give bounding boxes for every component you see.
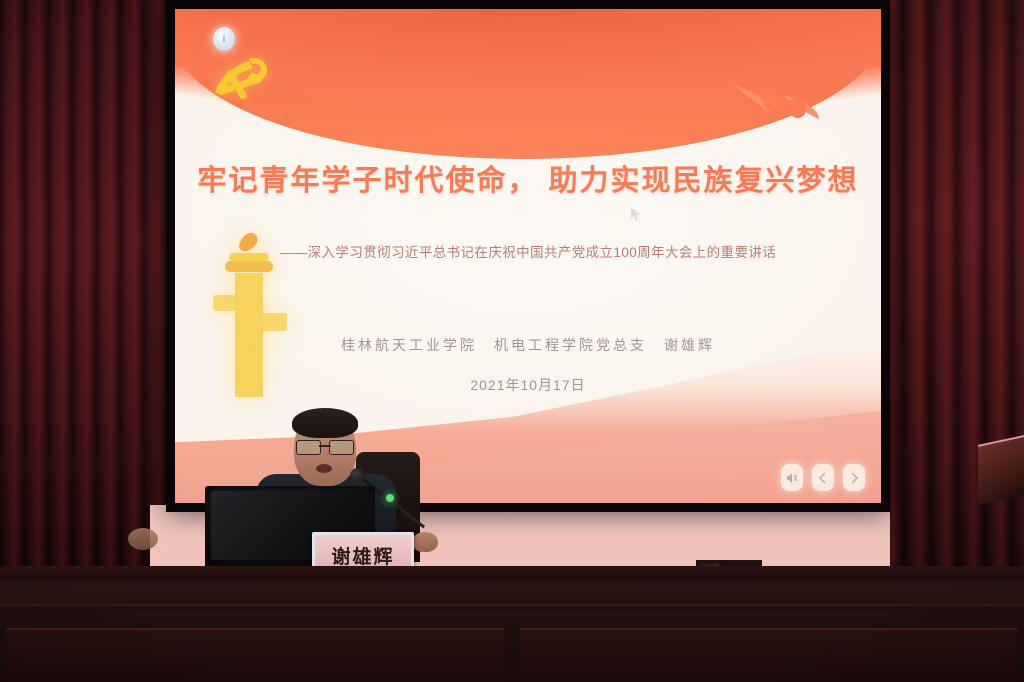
speaker-hair <box>292 408 358 438</box>
speaker-right-hand <box>412 532 438 552</box>
desk-panel <box>6 628 504 682</box>
slide-title: 牢记青年学子时代使命， 助力实现民族复兴梦想 <box>175 157 881 199</box>
speaker-mouth <box>316 464 332 473</box>
slide-badge-icon: i <box>213 27 235 51</box>
speaker-left-hand <box>128 528 158 550</box>
slide-subtitle: ——深入学习贯彻习近平总书记在庆祝中国共产党成立100周年大会上的重要讲话 <box>175 241 881 261</box>
desk-panel <box>520 628 1018 682</box>
party-hammer-sickle-emblem-icon <box>205 49 277 115</box>
previous-slide-button[interactable] <box>812 464 834 491</box>
slide-organization: 桂林航天工业学院 机电工程学院党总支 谢雄辉 <box>175 335 881 355</box>
peace-doves-icon <box>731 73 823 123</box>
next-slide-button[interactable] <box>843 464 865 491</box>
speaker-glasses-icon <box>296 440 354 453</box>
side-lectern <box>978 435 1024 505</box>
mute-button[interactable] <box>781 464 803 491</box>
slide-badge-label: i <box>223 33 225 45</box>
nameplate-text: 谢雄辉 <box>331 542 394 569</box>
desk-trim <box>0 604 1024 609</box>
stage-curtain-right <box>876 0 1024 620</box>
slide-playback-controls[interactable] <box>781 464 865 491</box>
mouse-cursor-icon <box>631 207 640 222</box>
presentation-scene: i <box>0 0 1024 682</box>
